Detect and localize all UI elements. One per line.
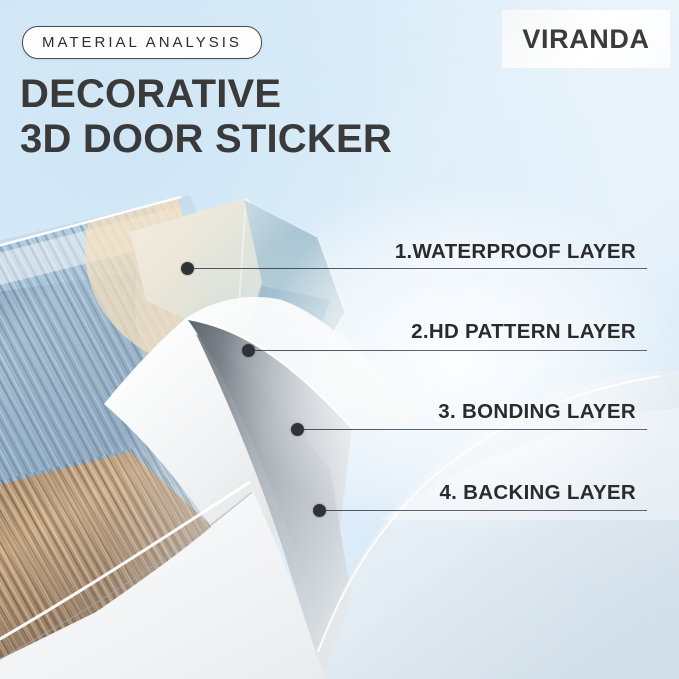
layer-label-4-rule xyxy=(347,510,645,511)
layer-label-1: 1.WATERPROOF LAYER xyxy=(336,240,636,268)
layer-label-1-text: 1.WATERPROOF LAYER xyxy=(395,240,636,268)
layer-label-2: 2.HD PATTERN LAYER xyxy=(336,320,636,348)
layer-label-3: 3. BONDING LAYER xyxy=(336,400,636,428)
title-line-2: 3D DOOR STICKER xyxy=(20,117,490,162)
brand-logo-box: VIRANDA xyxy=(502,10,670,68)
layer-label-4-text: 4. BACKING LAYER xyxy=(439,481,636,509)
title-line-1: DECORATIVE xyxy=(20,72,281,116)
layer-label-4: 4. BACKING LAYER xyxy=(336,481,636,509)
badge-label: MATERIAL ANALYSIS xyxy=(42,34,242,51)
layer-label-3-text: 3. BONDING LAYER xyxy=(438,400,636,428)
layer-label-1-rule xyxy=(347,268,645,269)
brand-name: VIRANDA xyxy=(522,24,649,55)
page-title: DECORATIVE 3D DOOR STICKER xyxy=(20,72,490,162)
material-analysis-badge: MATERIAL ANALYSIS xyxy=(22,26,262,59)
poster-canvas: MATERIAL ANALYSIS DECORATIVE 3D DOOR STI… xyxy=(0,0,679,679)
layer-label-3-rule xyxy=(347,429,645,430)
layer-label-2-text: 2.HD PATTERN LAYER xyxy=(411,320,636,348)
layer-label-2-rule xyxy=(347,350,645,351)
